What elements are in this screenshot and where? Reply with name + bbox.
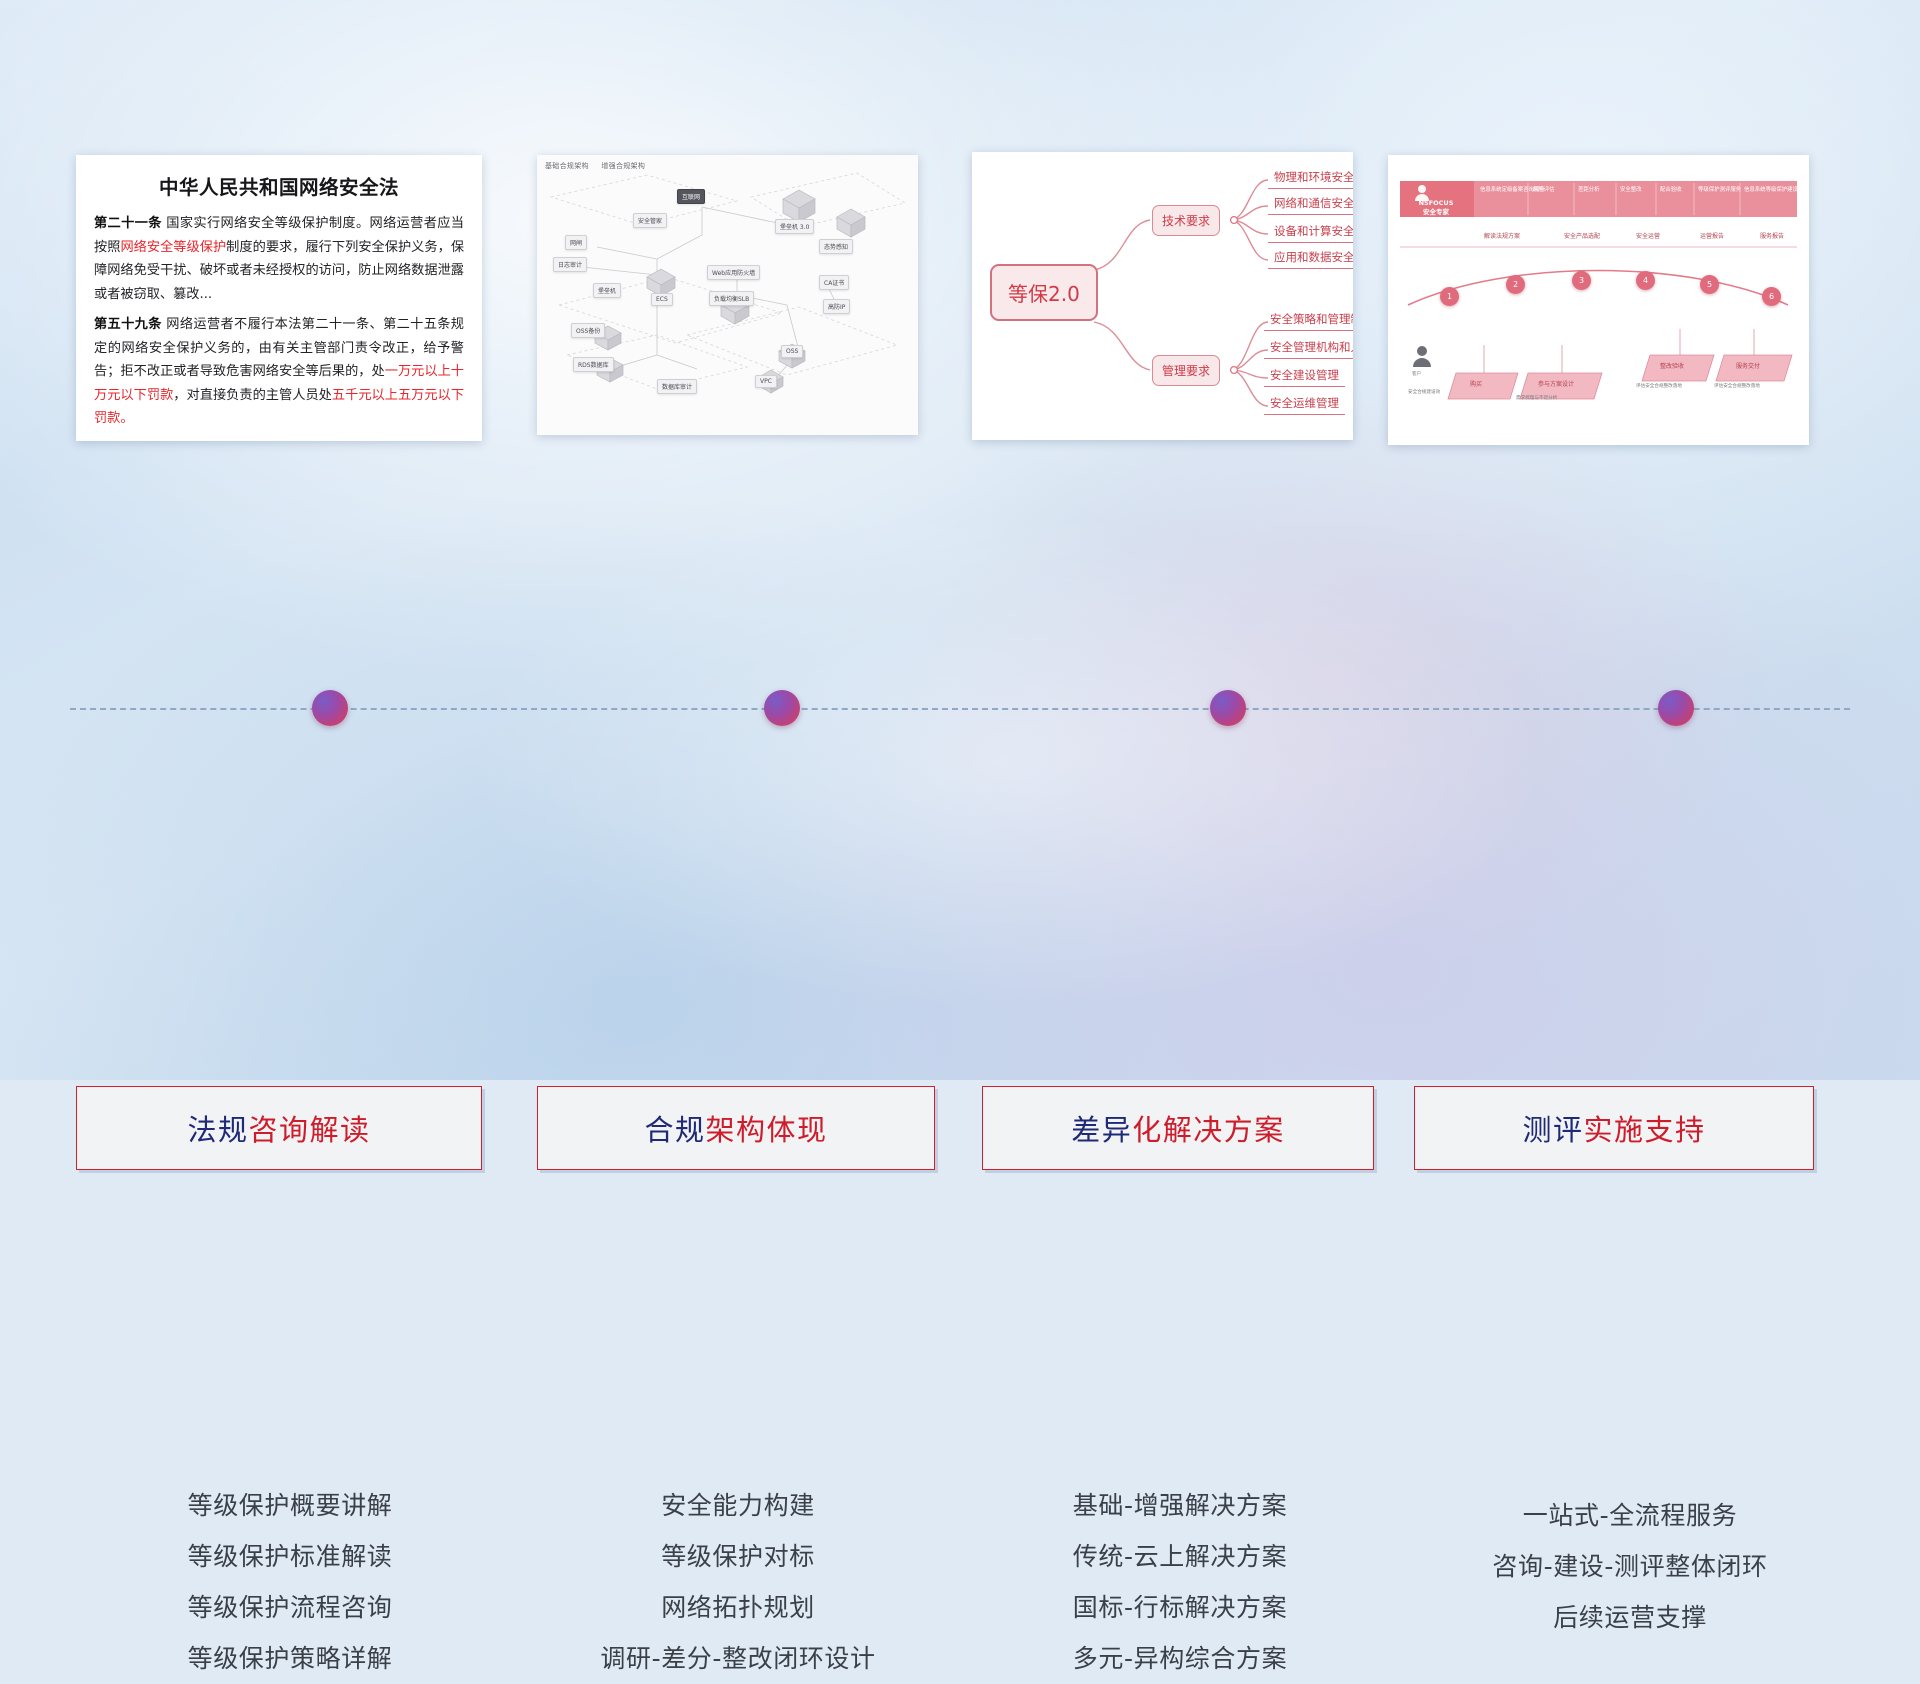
list-item: 等级保护流程咨询: [70, 1582, 510, 1633]
mindmap-root-node: 等保2.0: [990, 264, 1098, 321]
heading-text: 合规架构体现: [644, 1107, 827, 1149]
nsfocus-bottom-left-caption-2: 需求梳理与不足分析: [1516, 395, 1557, 401]
nsfocus-header-step-2: 风险评估: [1533, 185, 1555, 193]
architecture-node-slb: 负载均衡SLB: [709, 291, 754, 306]
heading-red-part: 实施支持: [1584, 1113, 1706, 1147]
heading-navy-part: 合规: [644, 1113, 705, 1147]
list-item: 咨询-建设-测评整体闭环: [1400, 1541, 1860, 1592]
law-document: 中华人民共和国网络安全法 第二十一条 国家实行网络安全等级保护制度。网络运营者应…: [76, 155, 482, 441]
list-item: 一站式-全流程服务: [1400, 1490, 1860, 1541]
list-item: 网络拓扑规划: [518, 1582, 958, 1633]
heading-box-compliance-architecture[interactable]: 合规架构体现: [537, 1086, 935, 1170]
nsfocus-header-step-4: 安全整改: [1620, 185, 1642, 193]
architecture-node-oss-backup: OSS备份: [571, 323, 605, 338]
heading-box-assessment-support[interactable]: 测评实施支持: [1414, 1086, 1814, 1170]
card-nsfocus-timeline[interactable]: NSFOCUS 安全专家 信息系统定级备案咨询服务 风险评估 差距分析 安全整改…: [1388, 155, 1809, 445]
law-paragraph-21: 第二十一条 国家实行网络安全等级保护制度。网络运营者应当按照网络安全等级保护制度…: [94, 212, 464, 306]
heading-red-part: 化解决方案: [1132, 1113, 1285, 1147]
list-column-compliance-architecture: 安全能力构建 等级保护对标 网络拓扑规划 调研-差分-整改闭环设计: [518, 1480, 958, 1684]
architecture-canvas: 基础合规架构 增强合规架构: [537, 155, 918, 435]
list-column-differentiated-solution: 基础-增强解决方案 传统-云上解决方案 国标-行标解决方案 多元-异构综合方案: [960, 1480, 1400, 1684]
list-item: 安全能力构建: [518, 1480, 958, 1531]
architecture-node-ca-cert: CA证书: [819, 275, 849, 290]
nsfocus-step-2: 2: [1506, 275, 1525, 294]
heading-box-differentiated-solution[interactable]: 差异化解决方案: [982, 1086, 1374, 1170]
nsfocus-bottom-right-item-1: 整改验收: [1660, 361, 1684, 370]
nsfocus-step-3: 3: [1572, 271, 1591, 290]
nsfocus-step-4: 4: [1636, 271, 1655, 290]
heading-red-part: 咨询解读: [249, 1113, 371, 1147]
nsfocus-stage-label-4: 运营报告: [1700, 231, 1724, 240]
timeline-dot-1[interactable]: [312, 690, 348, 726]
heading-navy-part: 测评: [1522, 1113, 1583, 1147]
architecture-node-rds: RDS数据库: [573, 357, 614, 372]
law-paragraph-59: 第五十九条 网络运营者不履行本法第二十一条、第二十五条规定的网络安全保护义务的，…: [94, 313, 464, 431]
list-item: 后续运营支撑: [1400, 1592, 1860, 1643]
architecture-node-situational-awareness: 态势感知: [819, 239, 853, 254]
architecture-node-security-manager: 安全管家: [633, 213, 667, 228]
timeline-dot-4[interactable]: [1658, 690, 1694, 726]
mindmap-leaf-operation-mgmt: 安全运维管理: [1264, 394, 1345, 415]
timeline: [70, 690, 1850, 730]
nsfocus-step-6: 6: [1762, 287, 1781, 306]
nsfocus-stage-label-2: 安全产品选配: [1564, 231, 1600, 240]
architecture-node-ecs: ECS: [651, 293, 673, 306]
nsfocus-bottom-left-caption-1: 安全合规建设效: [1408, 389, 1440, 395]
law-run-highlight: 网络安全等级保护: [120, 240, 226, 255]
nsfocus-bottom-left-item-2: 参与方案设计: [1538, 379, 1574, 388]
law-article-label-59: 第五十九条: [94, 317, 162, 332]
nsfocus-stage-label-1: 解读法规方案: [1484, 231, 1520, 240]
list-column-regulation-consulting: 等级保护概要讲解 等级保护标准解读 等级保护流程咨询 等级保护策略详解: [70, 1480, 510, 1684]
mindmap-branch-technical: 技术要求: [1152, 205, 1220, 236]
list-column-assessment-support: 一站式-全流程服务 咨询-建设-测评整体闭环 后续运营支撑: [1400, 1490, 1860, 1643]
architecture-node-vpc: VPC: [755, 375, 777, 388]
heading-text: 测评实施支持: [1522, 1107, 1705, 1149]
list-item: 调研-差分-整改闭环设计: [518, 1633, 958, 1684]
mindmap-leaf-device-compute: 设备和计算安全: [1268, 222, 1353, 243]
list-item: 等级保护概要讲解: [70, 1480, 510, 1531]
nsfocus-header-step-3: 差距分析: [1578, 185, 1600, 193]
architecture-node-bastion-30: 堡垒机 3.0: [775, 219, 814, 234]
nsfocus-header-step-7: 信息系统等级保护建设整改服务: [1744, 185, 1809, 193]
mindmap-leaf-physical-env: 物理和环境安全: [1268, 168, 1353, 189]
nsfocus-logo: NSFOCUS 安全专家: [1404, 199, 1468, 217]
card-law-text[interactable]: 中华人民共和国网络安全法 第二十一条 国家实行网络安全等级保护制度。网络运营者应…: [76, 155, 482, 441]
nsfocus-bottom-right-item-2: 服务交付: [1736, 361, 1760, 370]
architecture-node-internet: 互联网: [677, 189, 705, 204]
card-architecture-diagram[interactable]: 基础合规架构 增强合规架构: [537, 155, 918, 435]
architecture-node-gatekeeper: 网闸: [565, 235, 587, 250]
nsfocus-customer-label: 客户: [1412, 371, 1421, 377]
list-item: 等级保护标准解读: [70, 1531, 510, 1582]
architecture-node-db-audit: 数据库审计: [657, 379, 697, 394]
heading-navy-part: 差异: [1071, 1113, 1132, 1147]
nsfocus-step-1: 1: [1440, 287, 1459, 306]
architecture-node-waf: Web应用防火墙: [707, 265, 760, 280]
heading-red-part: 架构体现: [706, 1113, 828, 1147]
list-item: 国标-行标解决方案: [960, 1582, 1400, 1633]
list-item: 等级保护策略详解: [70, 1633, 510, 1684]
architecture-node-oss: OSS: [781, 345, 803, 358]
architecture-node-anti-ddos: 高防IP: [823, 299, 850, 314]
nsfocus-stage-label-5: 服务报告: [1760, 231, 1784, 240]
law-article-label-21: 第二十一条: [94, 216, 162, 231]
nsfocus-stage-label-3: 安全运营: [1636, 231, 1660, 240]
timeline-dot-3[interactable]: [1210, 690, 1246, 726]
nsfocus-bottom-left-item-1: 购买: [1470, 379, 1482, 388]
timeline-dot-2[interactable]: [764, 690, 800, 726]
nsfocus-brand: NSFOCUS: [1419, 199, 1454, 207]
heading-box-regulation-consulting[interactable]: 法规咨询解读: [76, 1086, 482, 1170]
nsfocus-bottom-right-caption-2: 评估安全合规整改落地: [1714, 383, 1760, 389]
nsfocus-brand-sub: 安全专家: [1423, 208, 1449, 216]
nsfocus-step-5: 5: [1700, 275, 1719, 294]
list-item: 传统-云上解决方案: [960, 1531, 1400, 1582]
mindmap-leaf-app-data: 应用和数据安全: [1268, 248, 1353, 269]
mindmap-leaf-construction-mgmt: 安全建设管理: [1264, 366, 1345, 387]
nsfocus-header-step-6: 等级保护测评服务: [1698, 185, 1741, 193]
nsfocus-bottom-right-caption-1: 评估安全合规整改落地: [1636, 383, 1682, 389]
law-run: ，对直接负责的主管人员处: [173, 388, 332, 403]
law-title: 中华人民共和国网络安全法: [94, 171, 464, 200]
architecture-node-log-audit: 日志审计: [553, 257, 587, 272]
card-row: 中华人民共和国网络安全法 第二十一条 国家实行网络安全等级保护制度。网络运营者应…: [0, 0, 1920, 460]
nsfocus-canvas: NSFOCUS 安全专家 信息系统定级备案咨询服务 风险评估 差距分析 安全整改…: [1388, 155, 1809, 445]
mindmap-canvas: 等保2.0 技术要求 管理要求 物理和环境安全 网络和通信安全 设备和计算安全 …: [972, 152, 1353, 440]
bottom-list-row: 等级保护概要讲解 等级保护标准解读 等级保护流程咨询 等级保护策略详解 安全能力…: [0, 740, 1920, 1000]
nsfocus-header-step-5: 配合验收: [1660, 185, 1682, 193]
architecture-node-bastion: 堡垒机: [593, 283, 621, 298]
heading-text: 法规咨询解读: [187, 1107, 370, 1149]
list-item: 等级保护对标: [518, 1531, 958, 1582]
mindmap-leaf-org-personnel: 安全管理机构和人员: [1264, 338, 1353, 359]
mindmap-leaf-network-comm: 网络和通信安全: [1268, 194, 1353, 215]
heading-row: 法规咨询解读 合规架构体现 差异化解决方案 测评实施支持: [0, 540, 1920, 650]
list-item: 多元-异构综合方案: [960, 1633, 1400, 1684]
card-mindmap[interactable]: 等保2.0 技术要求 管理要求 物理和环境安全 网络和通信安全 设备和计算安全 …: [972, 152, 1353, 440]
heading-text: 差异化解决方案: [1071, 1107, 1285, 1149]
mindmap-leaf-policy-system: 安全策略和管理制度: [1264, 310, 1353, 331]
mindmap-branch-management: 管理要求: [1152, 355, 1220, 386]
heading-navy-part: 法规: [187, 1113, 248, 1147]
list-item: 基础-增强解决方案: [960, 1480, 1400, 1531]
